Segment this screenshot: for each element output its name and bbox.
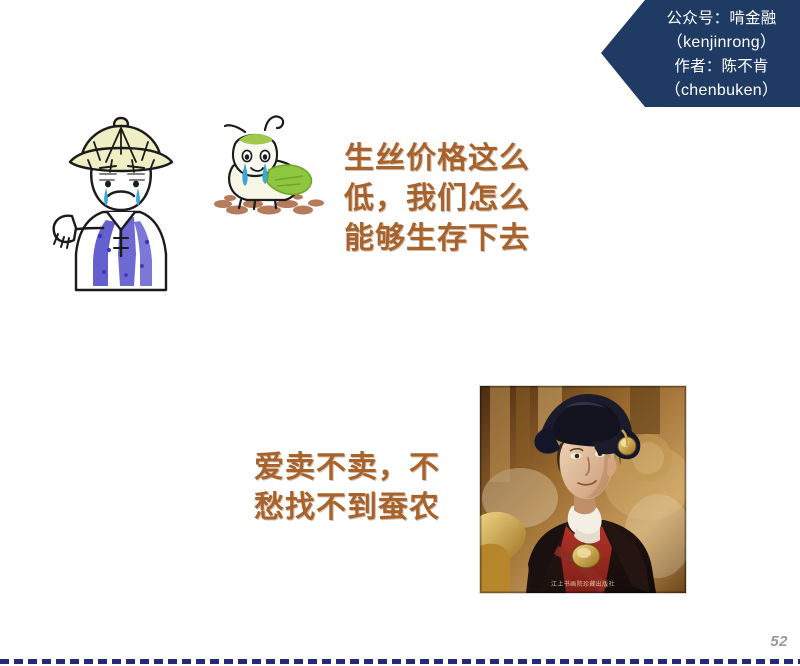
merchant-speech-text: 爱卖不卖，不 愁找不到蚕农 <box>254 448 440 528</box>
banner-line-account: 公众号：啃金融 <box>653 7 790 31</box>
farmer-speech-line-2: 低，我们怎么 <box>344 179 530 219</box>
crying-silkworm-icon <box>203 104 328 232</box>
banner-line-author-id: （chenbuken） <box>653 79 790 103</box>
merchant-speech-line-1: 爱卖不卖，不 <box>254 448 440 488</box>
portrait-caption: 江上书画院珍藏出版社 <box>480 579 686 588</box>
banner-line-author: 作者：陈不肯 <box>653 55 790 79</box>
slide-canvas: 公众号：啃金融 （kenjinrong） 作者：陈不肯 （chenbuken） <box>0 0 800 666</box>
page-number: 52 <box>770 633 788 650</box>
farmer-speech-line-3: 能够生存下去 <box>344 219 530 259</box>
banner-line-account-id: （kenjinrong） <box>653 31 790 55</box>
farmer-speech-line-1: 生丝价格这么 <box>344 139 530 179</box>
colonial-portrait-icon: 江上书画院珍藏出版社 <box>480 386 686 593</box>
farmer-speech-text: 生丝价格这么 低，我们怎么 能够生存下去 <box>344 139 530 259</box>
bottom-dashed-rule <box>0 659 800 664</box>
account-banner: 公众号：啃金融 （kenjinrong） 作者：陈不肯 （chenbuken） <box>601 0 800 107</box>
merchant-speech-line-2: 愁找不到蚕农 <box>254 488 440 528</box>
crying-farmer-icon <box>48 104 208 294</box>
